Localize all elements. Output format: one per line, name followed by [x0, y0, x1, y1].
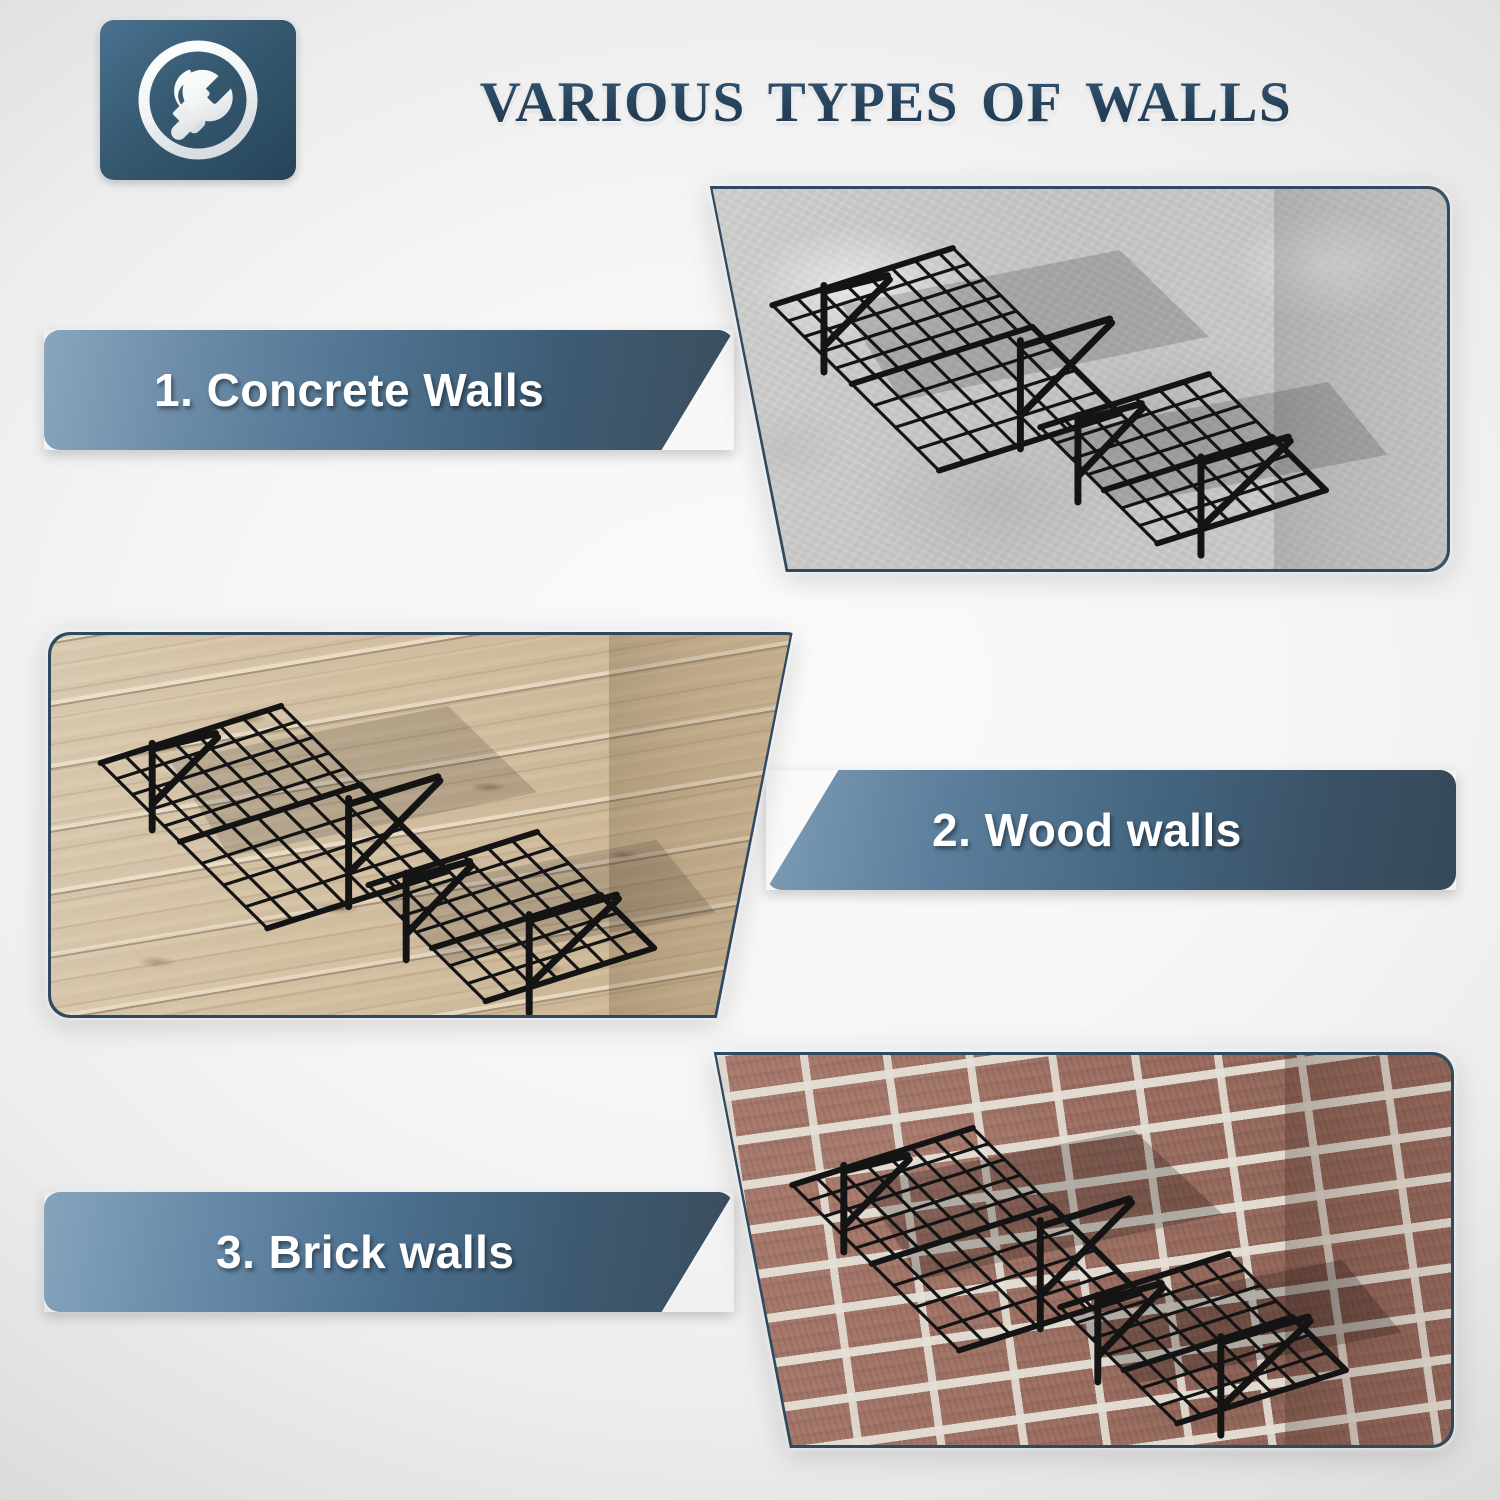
wrench-in-circle-icon — [132, 34, 264, 166]
wall-shelf-illustration — [51, 635, 805, 1015]
panel-frame — [690, 186, 1450, 572]
panel-frame — [48, 632, 808, 1018]
brand-logo — [100, 20, 296, 180]
wall-shelf-illustration — [693, 189, 1447, 569]
section-label-concrete: 1. Concrete Walls — [154, 363, 544, 417]
section-label-wood: 2. Wood walls — [932, 803, 1242, 857]
section-banner-brick[interactable]: 3. Brick walls — [44, 1192, 734, 1312]
photo-panel-concrete[interactable] — [690, 186, 1450, 572]
brick-wall-photo — [697, 1055, 1451, 1445]
header: Various Types of Walls — [0, 0, 1500, 200]
wood-wall-photo — [51, 635, 805, 1015]
wall-shelf-illustration — [697, 1055, 1451, 1445]
photo-panel-brick[interactable] — [694, 1052, 1454, 1448]
panel-frame — [694, 1052, 1454, 1448]
concrete-wall-photo — [693, 189, 1447, 569]
infographic-canvas: Various Types of Walls 1. Concrete Walls — [0, 0, 1500, 1500]
section-banner-wood[interactable]: 2. Wood walls — [766, 770, 1456, 890]
section-label-brick: 3. Brick walls — [216, 1225, 515, 1279]
photo-panel-wood[interactable] — [48, 632, 808, 1018]
section-banner-concrete[interactable]: 1. Concrete Walls — [44, 330, 734, 450]
page-title: Various Types of Walls — [336, 38, 1436, 150]
